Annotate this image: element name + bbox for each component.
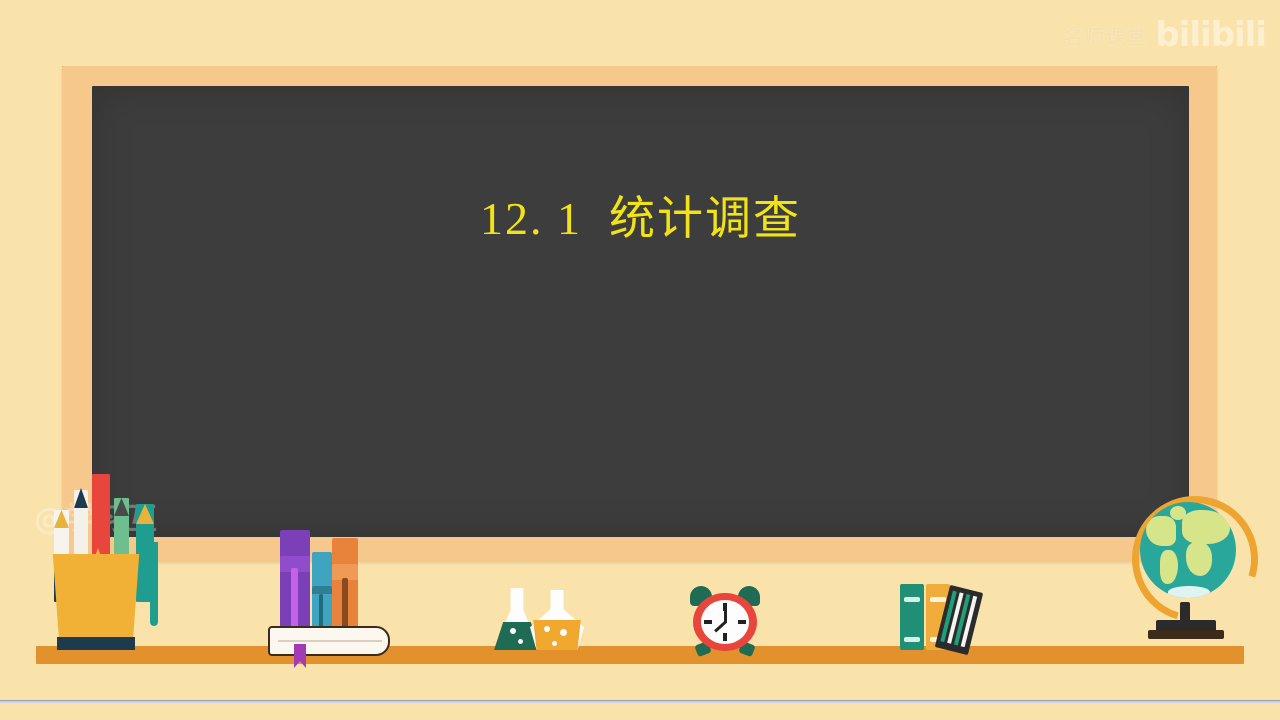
alarm-clock: [688, 586, 762, 652]
clock-tick-6: [723, 633, 727, 641]
book-teal-spine: [319, 594, 323, 630]
blackboard-surface: 12. 1 统计调查: [92, 86, 1189, 537]
landmass-eurasia: [1182, 510, 1230, 544]
pencil-cup-group: [40, 450, 170, 650]
globe-base-bottom: [1148, 630, 1224, 639]
landmass-north-america: [1146, 516, 1176, 546]
landmass-greenland: [1170, 506, 1186, 520]
book-orange-spine: [342, 578, 348, 630]
pencil-cup-base: [57, 637, 135, 650]
closed-book: [268, 626, 390, 656]
book-green-band-bottom: [904, 637, 920, 642]
clock-hand-hour: [714, 621, 726, 633]
landmass-africa: [1186, 542, 1212, 576]
page-title: 12. 1 统计调查: [92, 182, 1189, 248]
book-stack-right: [900, 580, 992, 650]
marker-teal-clip: [150, 542, 158, 626]
book-teal-band: [312, 586, 332, 594]
globe-sphere: [1140, 502, 1236, 598]
round-flask-bubble-3: [552, 641, 557, 646]
clock-tick-9: [704, 620, 712, 624]
book-purple-spine: [291, 568, 298, 630]
book-stack-left: [268, 528, 394, 656]
closed-book-pages: [278, 640, 382, 642]
blackboard-frame: 12. 1 统计调查: [62, 66, 1217, 561]
flasks-group: [494, 582, 586, 650]
book-green-band-top: [904, 597, 920, 602]
clock-body: [693, 593, 757, 651]
pencil-cup-body: [50, 554, 142, 642]
clock-face: [701, 600, 749, 644]
shelf-ledge: [36, 646, 1244, 664]
watermark-group: 名师课堂 bilibili: [1063, 18, 1266, 52]
book-amber-band-top: [930, 597, 946, 602]
landmass-antarctica: [1168, 586, 1210, 598]
landmass-south-america: [1160, 550, 1178, 584]
slide-stage: 名师课堂 bilibili 12. 1 统计调查 @学习互: [0, 0, 1280, 720]
floor-divider-line: [0, 700, 1280, 703]
conical-flask-bubble-2: [518, 639, 523, 644]
conical-flask-bubble-1: [510, 628, 516, 634]
round-flask-bubble-2: [560, 629, 567, 636]
bookmark-ribbon: [294, 644, 306, 668]
globe: [1128, 490, 1252, 650]
brand-watermark-text: 名师课堂: [1063, 21, 1147, 50]
round-flask-liquid: [530, 620, 584, 650]
clock-tick-3: [738, 620, 746, 624]
bilibili-logo: bilibili: [1155, 18, 1266, 52]
round-flask-bubble-1: [544, 626, 550, 632]
